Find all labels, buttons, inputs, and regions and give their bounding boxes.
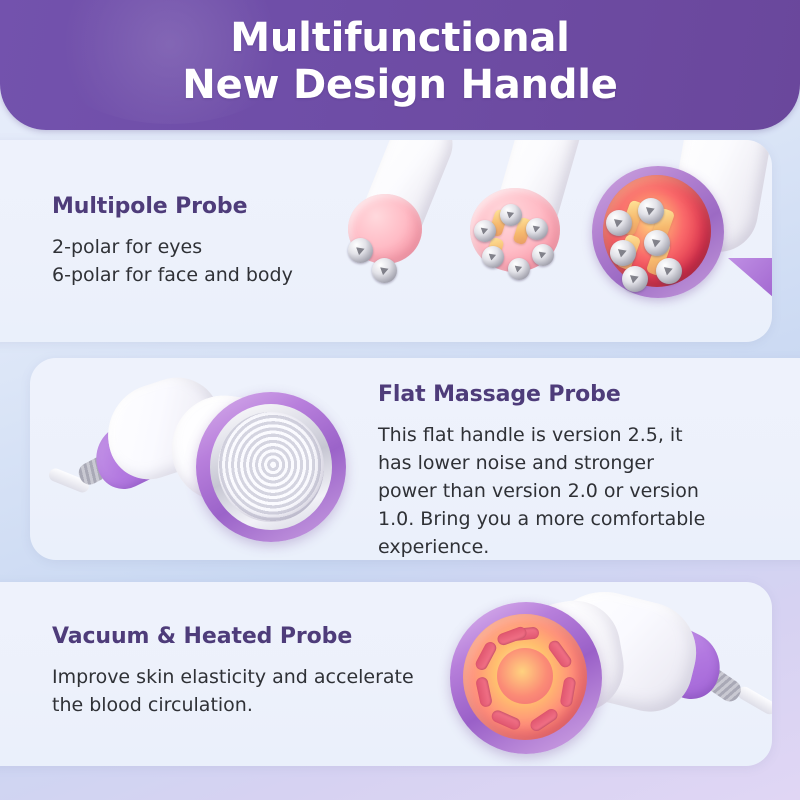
feature-card-vacuum-heated-probe: Vacuum & Heated Probe Improve skin elast… (0, 582, 772, 766)
vacuum-slot (496, 625, 528, 647)
electrode-pole (610, 240, 636, 266)
electrode-pole (532, 244, 554, 266)
card-title: Vacuum & Heated Probe (52, 624, 432, 649)
flat-massage-disc (196, 392, 346, 542)
card-text-block: Vacuum & Heated Probe Improve skin elast… (52, 624, 432, 719)
multipole-probe-illustration (320, 140, 772, 342)
electrode-pole (500, 204, 522, 226)
header-banner: Multifunctional New Design Handle (0, 0, 800, 130)
electrode-pole (656, 258, 682, 284)
page-title: Multifunctional New Design Handle (182, 15, 617, 109)
handle-tip-wedge (728, 258, 772, 298)
page-title-line-2: New Design Handle (182, 62, 617, 109)
card-title: Multipole Probe (52, 194, 293, 219)
vacuum-slot (474, 640, 499, 672)
card-text-block: Flat Massage Probe This flat handle is v… (378, 382, 708, 560)
page-title-line-1: Multifunctional (182, 15, 617, 62)
vacuum-slot (475, 676, 493, 708)
disc-concentric-rings (218, 412, 324, 522)
electrode-pole (638, 198, 664, 224)
vacuum-probe-head (450, 602, 602, 754)
vacuum-slot (490, 708, 522, 731)
probe-face-glow (463, 614, 587, 740)
electrode-pole (508, 258, 530, 280)
electrode-pole (606, 210, 632, 236)
electrode-pole (482, 246, 504, 268)
card-body: 2-polar for eyes 6-polar for face and bo… (52, 233, 293, 289)
electrode-pole (474, 220, 496, 242)
electrode-pole (622, 266, 648, 292)
card-body: Improve skin elasticity and accelerate t… (52, 663, 432, 719)
electrode-pole (372, 258, 397, 283)
product-infographic: Multifunctional New Design Handle Multip… (0, 0, 800, 800)
vacuum-slot (528, 707, 560, 734)
feature-card-multipole-probe: Multipole Probe 2-polar for eyes 6-polar… (0, 140, 772, 342)
card-body: This flat handle is version 2.5, it has … (378, 421, 708, 560)
electrode-pole (526, 218, 548, 240)
electrode-pole (348, 238, 373, 263)
card-title: Flat Massage Probe (378, 382, 708, 407)
vacuum-slot (559, 676, 576, 708)
electrode-pole (644, 230, 670, 256)
vacuum-probe-illustration (450, 582, 772, 766)
flat-probe-illustration (44, 370, 344, 550)
feature-card-flat-massage-probe: Flat Massage Probe This flat handle is v… (30, 358, 800, 560)
probe-head-glowing (592, 166, 724, 298)
card-text-block: Multipole Probe 2-polar for eyes 6-polar… (52, 194, 293, 289)
probe-core (497, 648, 553, 704)
